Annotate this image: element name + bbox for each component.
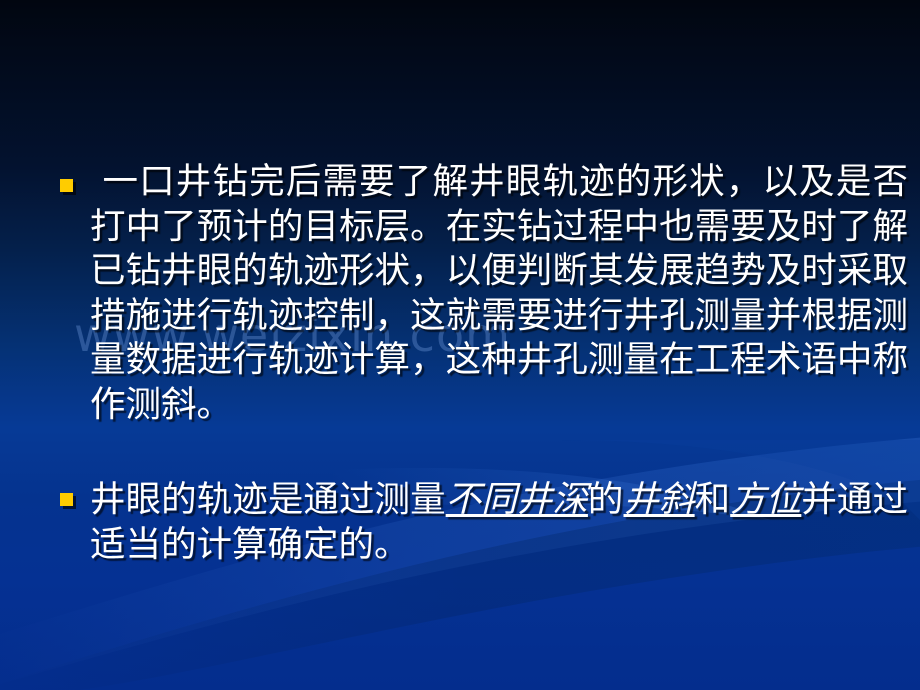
emphasized-term: 井斜: [623, 479, 694, 520]
emphasized-term: 不同井深: [446, 479, 588, 520]
square-bullet-icon: [60, 493, 73, 506]
emphasized-term: 方位: [730, 479, 801, 520]
slide-content: 一口井钻完后需要了解井眼轨迹的形状，以及是否打中了预计的目标层。在实钻过程中也需…: [0, 0, 920, 690]
bullet-1-text: 一口井钻完后需要了解井眼轨迹的形状，以及是否打中了预计的目标层。在实钻过程中也需…: [52, 160, 908, 427]
bullet-item-1: 一口井钻完后需要了解井眼轨迹的形状，以及是否打中了预计的目标层。在实钻过程中也需…: [52, 160, 908, 427]
body-text-run: 和: [695, 479, 731, 520]
square-bullet-icon: [60, 179, 73, 192]
body-text-run: 的: [588, 479, 624, 520]
slide-canvas: www.weizixin.com 一口井钻完后需要了解井眼轨迹的形状，以及是否打…: [0, 0, 920, 690]
bullet-2-text: 井眼的轨迹是通过测量不同井深的井斜和方位并通过适当的计算确定的。: [52, 478, 908, 567]
body-text-run: 井眼的轨迹是通过测量: [90, 479, 446, 520]
body-text-run: 一口井钻完后需要了解井眼轨迹的形状，以及是否打中了预计的目标层。在实钻过程中也需…: [90, 161, 908, 425]
bullet-item-2: 井眼的轨迹是通过测量不同井深的井斜和方位并通过适当的计算确定的。: [52, 478, 908, 567]
